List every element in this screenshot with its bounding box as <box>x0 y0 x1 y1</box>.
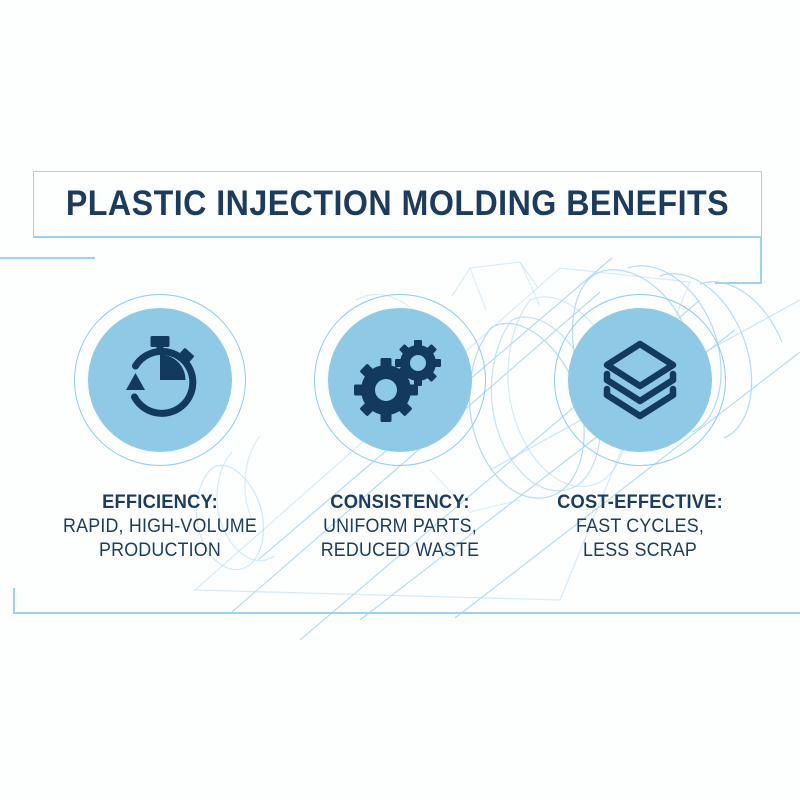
benefit-column-cost-effective: COST-EFFECTIVE: FAST CYCLES, LESS SCRAP <box>510 292 770 564</box>
benefit-line-2: REDUCED WASTE <box>278 539 522 563</box>
benefit-line-2: LESS SCRAP <box>518 539 762 563</box>
benefit-caption-consistency: CONSISTENCY: UNIFORM PARTS, REDUCED WAST… <box>270 490 530 564</box>
layers-stack-icon <box>568 308 712 452</box>
title-right-vertical-rule <box>760 236 762 284</box>
benefit-line-1: FAST CYCLES, <box>518 515 762 539</box>
icon-badge-consistency <box>312 292 488 468</box>
benefit-line-1: UNIFORM PARTS, <box>278 515 522 539</box>
benefit-caption-efficiency: EFFICIENCY: RAPID, HIGH-VOLUME PRODUCTIO… <box>30 490 290 564</box>
benefit-heading: COST-EFFECTIVE: <box>518 490 762 515</box>
bottom-horizontal-rule <box>13 612 800 614</box>
icon-badge-efficiency <box>72 292 248 468</box>
left-accent-rule <box>0 257 95 259</box>
benefit-column-consistency: CONSISTENCY: UNIFORM PARTS, REDUCED WAST… <box>270 292 530 564</box>
stopwatch-icon <box>88 308 232 452</box>
title-right-corner-rule <box>715 282 762 284</box>
benefit-heading: CONSISTENCY: <box>278 490 522 515</box>
icon-badge-cost-effective <box>552 292 728 468</box>
benefit-caption-cost-effective: COST-EFFECTIVE: FAST CYCLES, LESS SCRAP <box>510 490 770 564</box>
benefit-line-2: PRODUCTION <box>38 539 282 563</box>
bottom-left-corner-vertical-rule <box>13 588 15 614</box>
benefit-column-efficiency: EFFICIENCY: RAPID, HIGH-VOLUME PRODUCTIO… <box>30 292 290 564</box>
infographic-canvas: PLASTIC INJECTION MOLDING BENEFITS <box>0 0 800 800</box>
benefit-heading: EFFICIENCY: <box>38 490 282 515</box>
gears-icon <box>328 308 472 452</box>
page-title: PLASTIC INJECTION MOLDING BENEFITS <box>62 171 733 237</box>
benefit-line-1: RAPID, HIGH-VOLUME <box>38 515 282 539</box>
